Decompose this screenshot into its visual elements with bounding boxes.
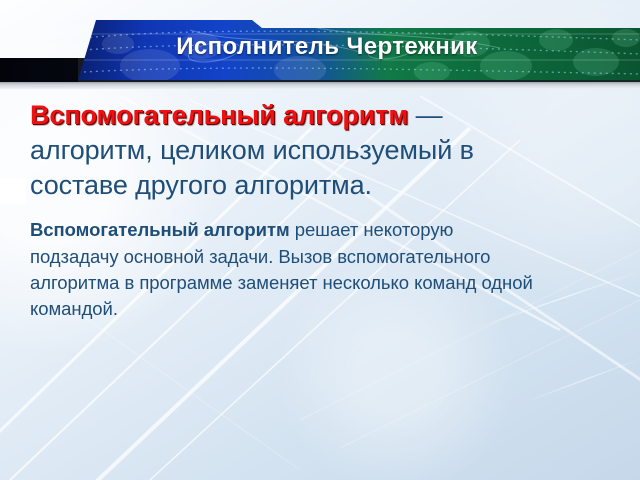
detail-keyword: Вспомогательный алгоритм (30, 219, 290, 240)
detail-paragraph: Вспомогательный алгоритм решает некотору… (30, 217, 536, 322)
lead-keyword: Вспомогательный алгоритм (30, 100, 408, 130)
slide-header: Исполнитель Чертежник (0, 0, 640, 92)
page-title: Исполнитель Чертежник (0, 35, 640, 59)
slide: Исполнитель Чертежник Вспомогательный ал… (0, 0, 640, 480)
lead-paragraph: Вспомогательный алгоритм — алгоритм, цел… (30, 98, 536, 203)
background-block (0, 178, 26, 204)
slide-content: Вспомогательный алгоритм — алгоритм, цел… (30, 98, 536, 322)
